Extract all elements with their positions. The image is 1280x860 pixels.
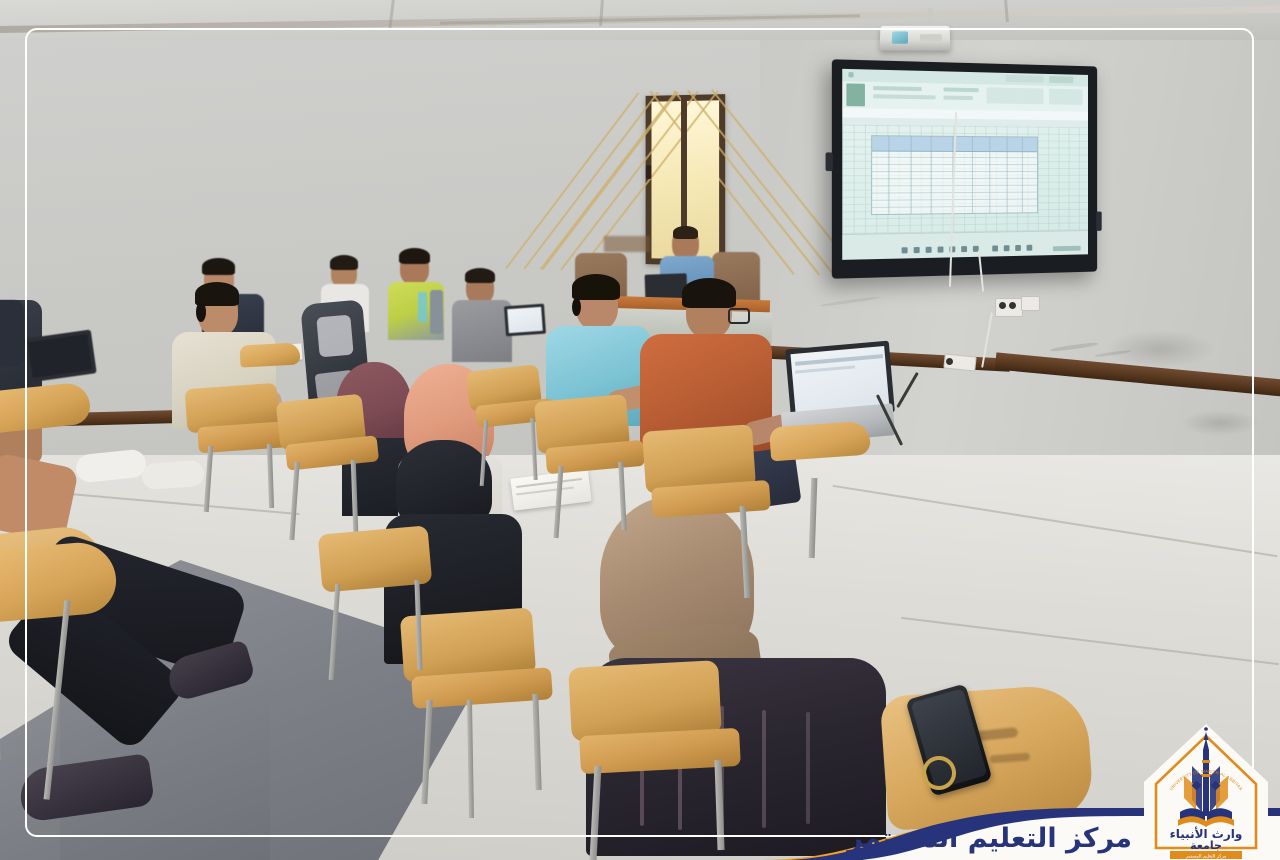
spreadsheet-statusbar [842, 230, 1088, 260]
classroom-photograph [0, 0, 1280, 860]
wall-stain [1105, 330, 1215, 368]
laptop-screen [507, 307, 543, 333]
projector-lens [892, 31, 908, 43]
screenshot-root: مركز التعليم المستمر [0, 0, 1280, 860]
display-screen [842, 69, 1088, 260]
shoe [141, 460, 205, 490]
outlet-plug [946, 358, 953, 365]
logo-ribbon-text: مركز التعليم المستمر [1185, 853, 1227, 859]
outlet-plug [1009, 302, 1016, 309]
university-logo: UNIVERSITY OF WARITH AL-ANBIYAA وارث الأ… [1140, 720, 1272, 860]
backpack-pocket [316, 315, 353, 358]
torso [452, 300, 512, 362]
wall-picture [604, 236, 650, 252]
outlet-plug [999, 302, 1006, 309]
logo-emblem: UNIVERSITY OF WARITH AL-ANBIYAA وارث الأ… [1140, 720, 1272, 860]
wall-mounted-smart-display[interactable] [832, 59, 1097, 278]
logo-name-ar-2: جامعة [1190, 839, 1222, 852]
wall-stain [1180, 410, 1260, 436]
tablet-arm-desk[interactable] [769, 421, 871, 462]
eyeglasses [728, 308, 750, 324]
ceiling-projector [880, 26, 951, 51]
table-row [872, 199, 1037, 207]
wall-outlet[interactable] [1021, 296, 1040, 311]
tablet-arm-desk[interactable] [239, 342, 300, 367]
